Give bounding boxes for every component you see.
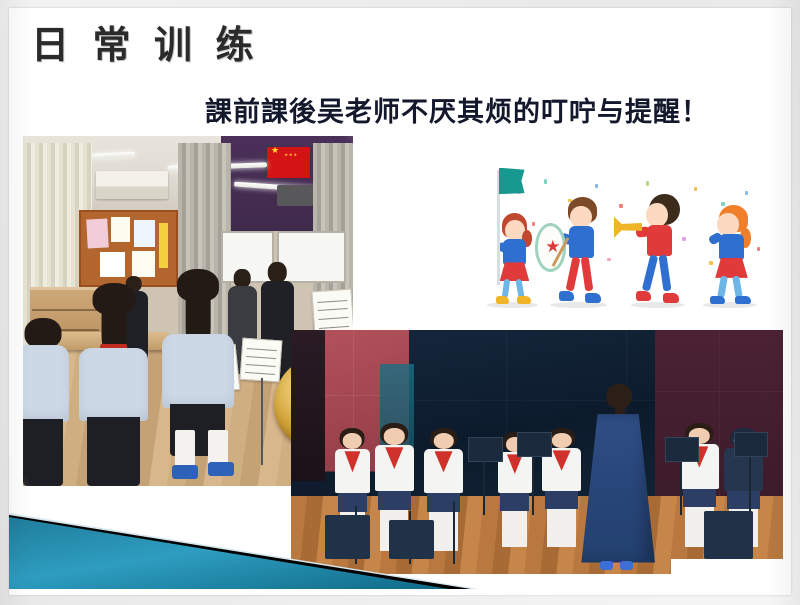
stage-left-dark-wall (291, 330, 325, 481)
conductor-blue-dress (581, 414, 655, 562)
shoe (636, 291, 651, 301)
flag-icon (499, 168, 525, 195)
folding-chair (704, 511, 753, 560)
cartoon-kid-trumpet-boy (634, 194, 685, 304)
stage-maroon-wall (655, 330, 783, 511)
leg (566, 257, 581, 292)
head (570, 206, 591, 228)
shoe (517, 296, 531, 304)
music-stand (239, 338, 281, 383)
music-stand (468, 437, 502, 461)
music-stand (734, 432, 768, 456)
music-stand-pole (483, 462, 485, 516)
shoe (735, 296, 751, 304)
shoe (663, 293, 679, 303)
projector (277, 185, 313, 206)
student-figure (79, 283, 148, 486)
torso (719, 234, 743, 260)
title-block: 日 常 训 练 (31, 24, 451, 68)
slide-frame: 日 常 训 练 課前課後吴老师不厌其烦的叮咛与提醒！ (0, 0, 800, 605)
music-stand-pole (532, 457, 534, 516)
shoe (559, 291, 574, 301)
skirt (715, 258, 748, 278)
leg (717, 275, 727, 298)
cartoon-kid-marching-girl (706, 203, 757, 304)
shoe (585, 293, 601, 303)
head (717, 213, 738, 235)
student-figure (23, 318, 69, 486)
conductor-shoe (600, 561, 613, 571)
stage-scene (291, 330, 783, 574)
conductor-figure (576, 384, 660, 574)
music-stand-pole (749, 457, 751, 516)
leg (732, 275, 742, 298)
air-conditioner (96, 171, 169, 199)
photo-edge-fade (671, 559, 791, 595)
slide-subtitle: 課前課後吴老师不厌其烦的叮咛与提醒！ (205, 94, 785, 130)
leg (642, 254, 659, 291)
music-stand-pole (453, 501, 455, 564)
folding-chair (389, 520, 433, 559)
photo-orchestra-performance (291, 330, 783, 574)
student-shoe (208, 462, 234, 476)
folding-chair (325, 515, 369, 559)
student-shoe (172, 465, 198, 479)
music-stand (665, 437, 699, 461)
leg (658, 254, 671, 291)
music-stand-pole (680, 462, 682, 516)
skirt (500, 262, 530, 281)
shoe (496, 296, 509, 304)
head (646, 203, 667, 227)
page-title: 日 常 训 练 (31, 24, 451, 68)
cartoon-kid-flag-girl (490, 209, 538, 304)
shoe (710, 296, 725, 304)
slide-canvas: 日 常 训 练 課前課後吴老师不厌其烦的叮咛与提醒！ (9, 8, 791, 595)
music-stand-pole (261, 378, 263, 466)
cartoon-kid-drummer-boy: ★ (556, 197, 607, 304)
student-sock (175, 430, 195, 469)
conductor-shoe (620, 561, 633, 571)
leg (580, 257, 593, 292)
torso (647, 225, 671, 256)
photo-cartoon-marching-band: ★ (475, 166, 775, 314)
china-flag-icon (267, 147, 310, 179)
music-stand (517, 432, 551, 456)
